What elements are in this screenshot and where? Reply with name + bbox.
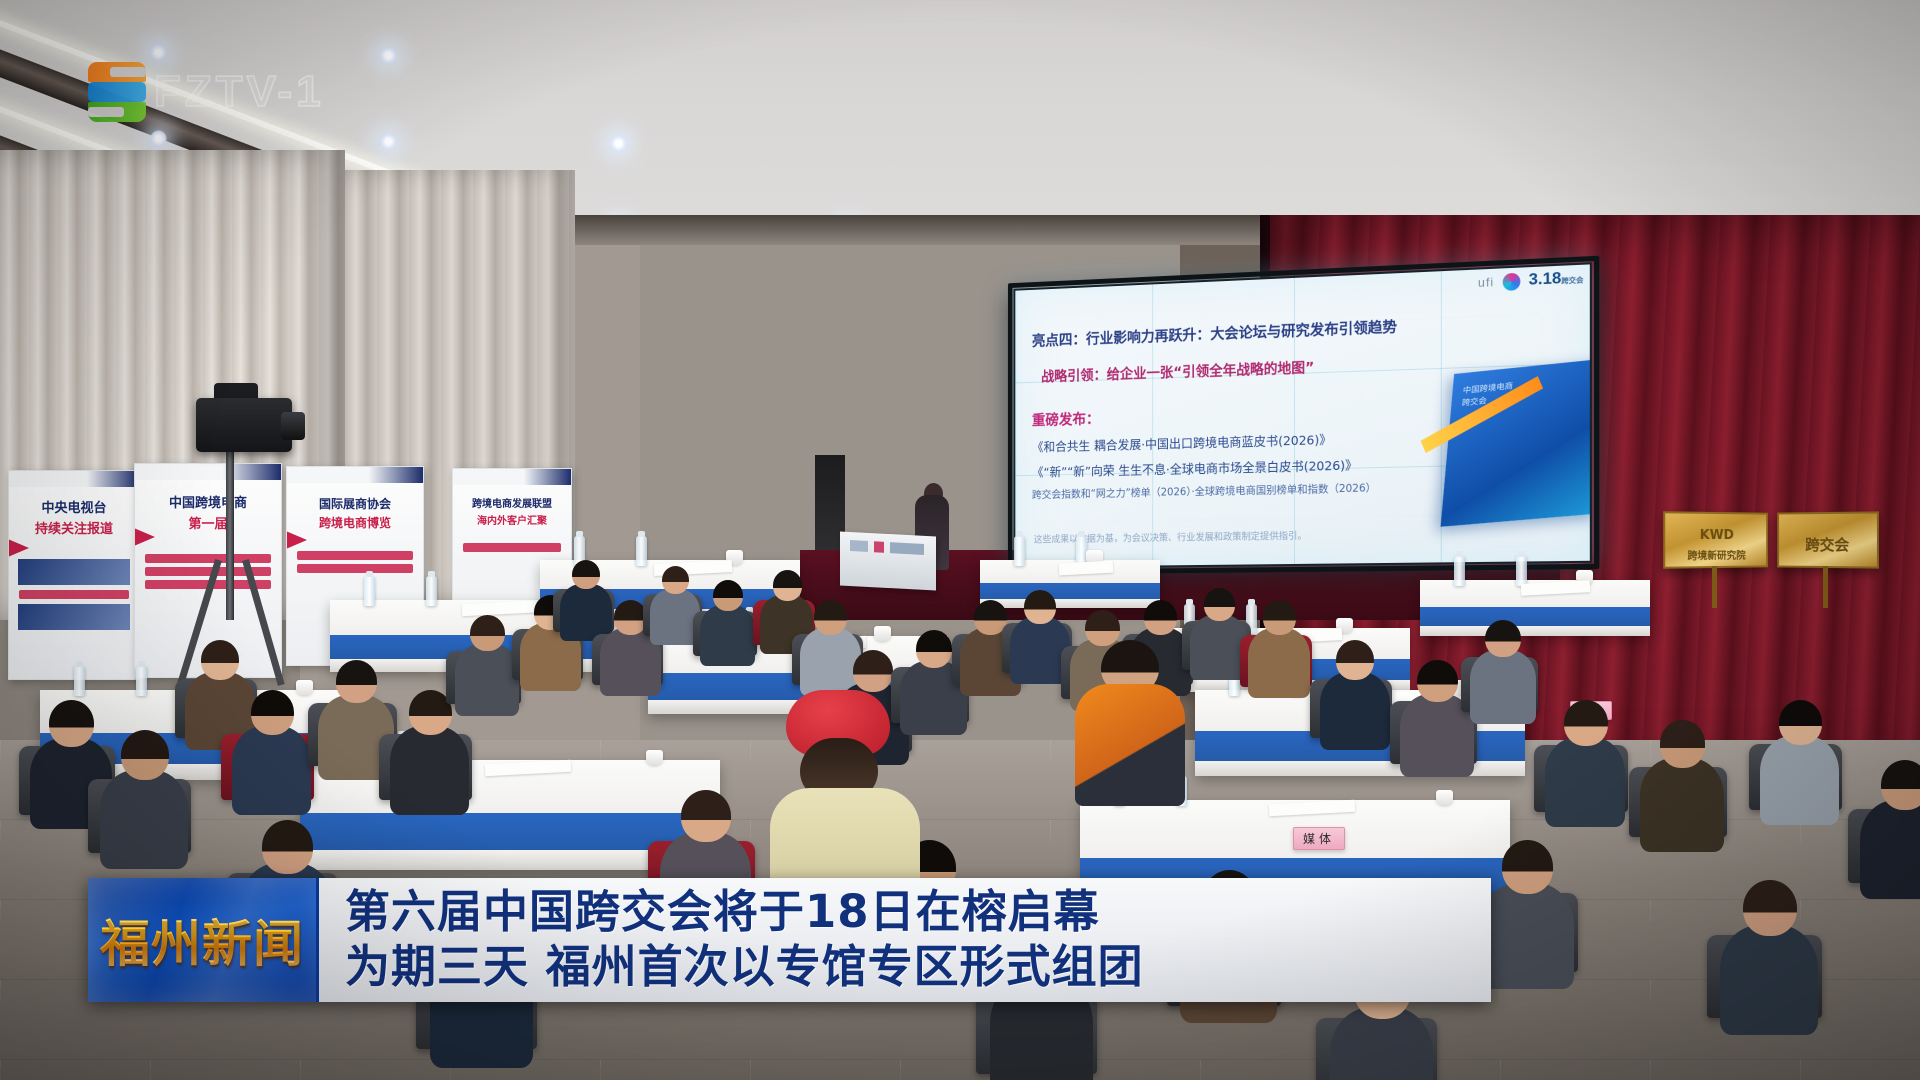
- lower-third-banner: 福州新闻 第六届中国跨交会将于18日在榕启幕 为期三天 福州首次以专馆专区形式组…: [88, 878, 1491, 1002]
- event-brand-icon: [1503, 272, 1521, 290]
- broadcast-camera: [196, 398, 292, 452]
- ceiling-spotlight: [610, 135, 627, 152]
- headline-block: 第六届中国跨交会将于18日在榕启幕 为期三天 福州首次以专馆专区形式组团: [316, 878, 1491, 1002]
- audience-head: [572, 560, 600, 589]
- audience-member-orange-jacket: [1075, 640, 1185, 810]
- stage-easel-1: KWD 跨境新研究院: [1663, 511, 1768, 569]
- camera-lens-icon: [281, 412, 305, 440]
- audience-torso: [1075, 684, 1185, 806]
- standee-0-bar-1: [19, 590, 129, 599]
- water-bottle: [1014, 536, 1025, 566]
- water-bottle: [1454, 556, 1465, 586]
- audience-head: [1417, 660, 1457, 702]
- stage-easel-2: 跨交会: [1777, 511, 1879, 568]
- program-name-label: 福州新闻: [100, 904, 304, 976]
- standee-1-arrow-icon: [134, 526, 155, 548]
- slide-decorative-art: 中国跨境电商跨交会: [1441, 358, 1592, 527]
- audience-head: [262, 820, 313, 874]
- audience-head: [201, 640, 239, 680]
- stage-easel-1-sub: 跨境新研究院: [1665, 547, 1766, 563]
- audience-torso: [1320, 672, 1390, 750]
- fztv-logo-icon: [88, 62, 146, 122]
- stage-easel-1-stand: [1712, 566, 1717, 608]
- headline-line-1: 第六届中国跨交会将于18日在榕启幕: [345, 885, 1491, 940]
- audience-head: [251, 690, 294, 735]
- channel-logo-text: FZTV-1: [154, 67, 325, 117]
- audience-torso: [455, 644, 519, 715]
- table-sign-media-1: 媒体: [1293, 827, 1345, 850]
- channel-logo: FZTV-1: [88, 62, 325, 122]
- water-bottle: [364, 576, 375, 606]
- audience-member: [1720, 880, 1876, 1045]
- event-number-label: 3.18跨交会: [1529, 269, 1584, 290]
- standee-0: 中央电视台 持续关注报道: [8, 470, 140, 680]
- logo-notch-top: [110, 67, 146, 77]
- stage-easel-1-label: KWD: [1665, 528, 1766, 543]
- broadcast-frame: ufi 3.18跨交会 中国跨境电商跨交会 亮点四：行业影响力再跃升：大会论坛与…: [0, 0, 1920, 1080]
- audience-head: [1502, 840, 1553, 894]
- logo-block-blue: [88, 82, 146, 102]
- standee-2-bar-1: [297, 551, 413, 560]
- audience-head: [1743, 880, 1797, 936]
- standee-0-title: 中央电视台: [9, 497, 139, 516]
- ceiling-spotlight: [150, 130, 167, 147]
- audience-head: [1336, 640, 1374, 680]
- audience-torso: [1640, 758, 1724, 852]
- audience-head: [1779, 700, 1822, 745]
- standee-2-title: 国际展商协会: [287, 495, 423, 512]
- audience-head: [1564, 700, 1608, 746]
- standee-1-topbar: [135, 464, 281, 480]
- logo-notch-bottom: [88, 107, 124, 117]
- standee-1-bar-1: [145, 554, 271, 563]
- slide-line-release-title: 重磅发布：: [1032, 408, 1100, 430]
- standee-1-subtitle: 第一届: [135, 513, 281, 532]
- standee-2-bar-2: [297, 564, 413, 573]
- audience-head: [1881, 760, 1920, 810]
- standee-3-title: 跨境电商发展联盟: [453, 495, 571, 510]
- audience-head: [49, 700, 94, 747]
- ceiling-spotlight: [380, 47, 397, 64]
- program-name-tag: 福州新闻: [88, 878, 316, 1002]
- headline-line-2: 为期三天 福州首次以专馆专区形式组团: [345, 940, 1491, 995]
- standee-2-topbar: [287, 467, 423, 483]
- ceiling-spotlight: [150, 44, 167, 61]
- water-bottle: [1516, 556, 1527, 586]
- audience-torso: [1760, 736, 1839, 824]
- water-bottle: [136, 666, 147, 696]
- audience-torso: [390, 726, 469, 814]
- paper-cup: [646, 750, 663, 765]
- projection-screen: ufi 3.18跨交会 中国跨境电商跨交会 亮点四：行业影响力再跃升：大会论坛与…: [1013, 262, 1592, 569]
- audience-head: [409, 690, 452, 735]
- audience-torso: [1720, 925, 1818, 1035]
- stage-easel-2-stand: [1823, 566, 1828, 608]
- audience-head: [1485, 620, 1521, 657]
- audience-head: [1660, 720, 1706, 768]
- audience-torso: [1248, 628, 1310, 697]
- audience-head: [1024, 590, 1056, 624]
- water-bottle: [426, 576, 437, 606]
- audience-head: [1144, 600, 1177, 635]
- audience-head: [121, 730, 169, 780]
- camera-tripod: [226, 450, 234, 620]
- paper-cup: [1436, 790, 1453, 805]
- audience-head: [713, 580, 743, 611]
- standee-3-subtitle: 海内外客户汇聚: [453, 512, 571, 527]
- audience-torso: [1470, 650, 1536, 723]
- audience-torso: [700, 605, 755, 666]
- audience-torso: [1545, 737, 1625, 827]
- audience-head: [470, 615, 505, 651]
- audience-head: [336, 660, 377, 703]
- slide-art-caption: 中国跨境电商跨交会: [1461, 380, 1513, 410]
- standee-2-arrow-icon: [286, 529, 307, 551]
- stage-easel-2-label: 跨交会: [1779, 534, 1877, 555]
- standee-0-arrow-icon: [8, 537, 29, 559]
- audience-torso: [232, 726, 311, 814]
- audience-head: [773, 570, 802, 601]
- water-bottle: [74, 666, 85, 696]
- standee-2-subtitle: 跨境电商博览: [287, 514, 423, 531]
- audience-head: [814, 600, 847, 635]
- audience-head: [681, 790, 731, 842]
- standee-3-topbar: [453, 469, 571, 485]
- standee-0-topbar: [9, 471, 139, 487]
- audience-head: [853, 650, 893, 692]
- audience-head: [1204, 588, 1236, 621]
- audience-head: [662, 566, 689, 594]
- standee-3-bar-1: [463, 543, 561, 552]
- ufi-logo-text: ufi: [1478, 275, 1494, 290]
- audience-head: [916, 630, 952, 668]
- standee-0-photo: [18, 559, 130, 585]
- standee-1-title: 中国跨境电商: [135, 492, 281, 511]
- ceiling-spotlight: [380, 133, 397, 150]
- audience-torso: [100, 770, 188, 869]
- audience-member: [1480, 840, 1630, 998]
- standee-0-photo-2: [18, 604, 130, 630]
- audience-head: [1263, 600, 1297, 635]
- standee-0-subtitle: 持续关注报道: [9, 518, 139, 537]
